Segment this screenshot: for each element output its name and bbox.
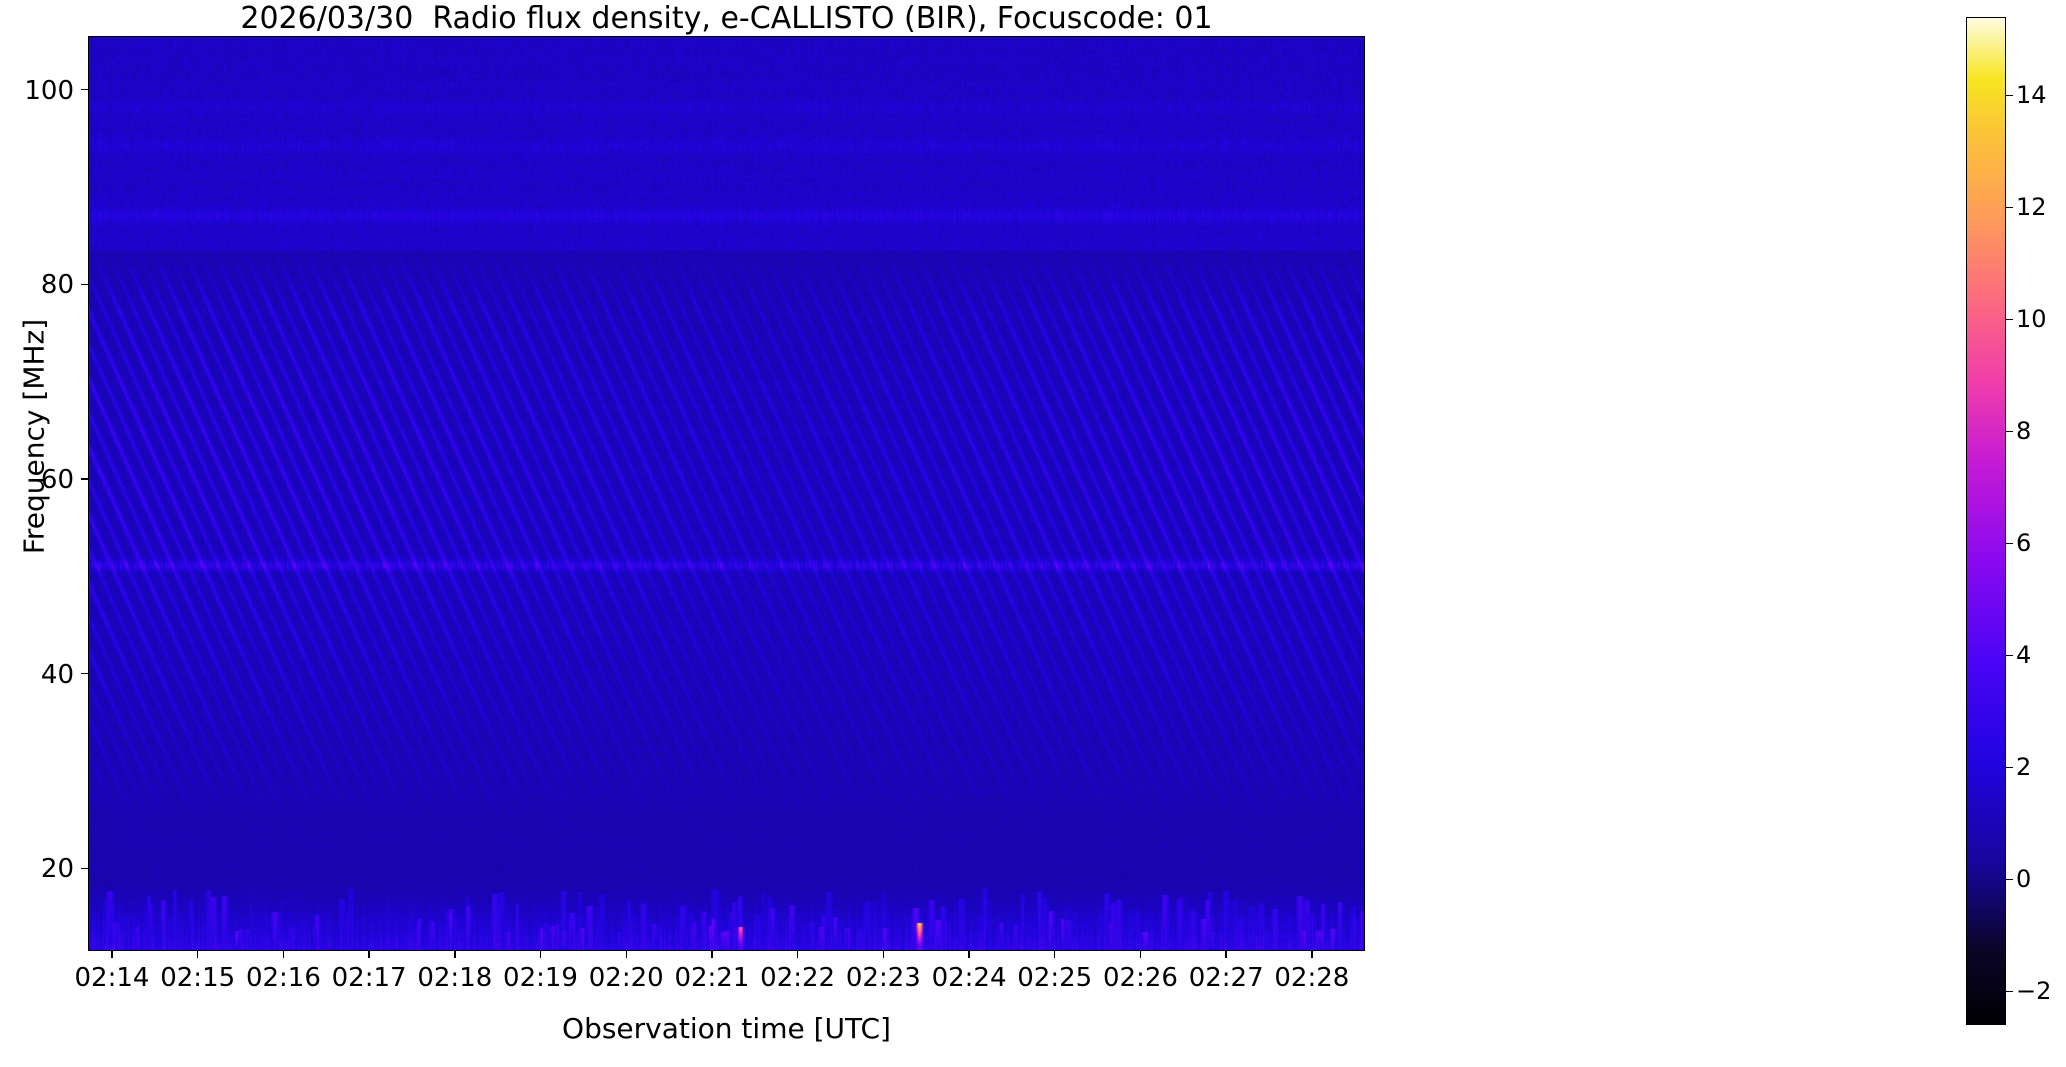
- colorbar-tick-label: 10: [2016, 305, 2047, 333]
- x-tick-mark: [1311, 951, 1312, 958]
- colorbar-tick-mark: [2006, 95, 2013, 96]
- y-tick-mark: [81, 673, 88, 674]
- x-tick-mark: [283, 951, 284, 958]
- x-tick-mark: [711, 951, 712, 958]
- x-tick-mark: [454, 951, 455, 958]
- x-tick-mark: [197, 951, 198, 958]
- colorbar-tick-label: 0: [2016, 865, 2031, 893]
- y-tick-mark: [81, 89, 88, 90]
- x-tick-mark: [368, 951, 369, 958]
- y-tick-mark: [81, 868, 88, 869]
- spectrogram-image: [89, 37, 1364, 950]
- x-tick-mark: [797, 951, 798, 958]
- colorbar-tick-mark: [2006, 431, 2013, 432]
- x-tick-mark: [1225, 951, 1226, 958]
- colorbar-tick-label: 2: [2016, 753, 2031, 781]
- colorbar-tick-label: 6: [2016, 529, 2031, 557]
- x-tick-mark: [626, 951, 627, 958]
- x-tick-mark: [1054, 951, 1055, 958]
- colorbar-gradient: [1967, 18, 2005, 1024]
- colorbar-tick-mark: [2006, 543, 2013, 544]
- colorbar-tick-mark: [2006, 655, 2013, 656]
- x-tick-mark: [968, 951, 969, 958]
- colorbar-tick-mark: [2006, 879, 2013, 880]
- spectrogram-axes[interactable]: [88, 36, 1365, 951]
- colorbar-tick-label: 4: [2016, 641, 2031, 669]
- colorbar-tick-mark: [2006, 767, 2013, 768]
- y-tick-mark: [81, 478, 88, 479]
- colorbar-tick-mark: [2006, 207, 2013, 208]
- colorbar-tick-label: 8: [2016, 417, 2031, 445]
- x-tick-mark: [883, 951, 884, 958]
- page-title: 2026/03/30 Radio flux density, e-CALLIST…: [88, 2, 1365, 36]
- x-tick-mark: [111, 951, 112, 958]
- colorbar-tick-label: −2: [2016, 977, 2051, 1005]
- colorbar[interactable]: [1966, 17, 2006, 1025]
- y-tick-label: 20: [4, 854, 74, 884]
- figure-canvas: 2026/03/30 Radio flux density, e-CALLIST…: [0, 0, 2066, 1067]
- y-axis-label: Frequency [MHz]: [18, 87, 51, 787]
- x-axis-label: Observation time [UTC]: [88, 1012, 1365, 1045]
- colorbar-tick-mark: [2006, 991, 2013, 992]
- x-tick-mark: [1140, 951, 1141, 958]
- colorbar-tick-label: 14: [2016, 81, 2047, 109]
- x-tick-mark: [540, 951, 541, 958]
- colorbar-tick-mark: [2006, 319, 2013, 320]
- y-tick-mark: [81, 284, 88, 285]
- x-tick-label: 02:28: [1247, 963, 1377, 993]
- colorbar-tick-label: 12: [2016, 193, 2047, 221]
